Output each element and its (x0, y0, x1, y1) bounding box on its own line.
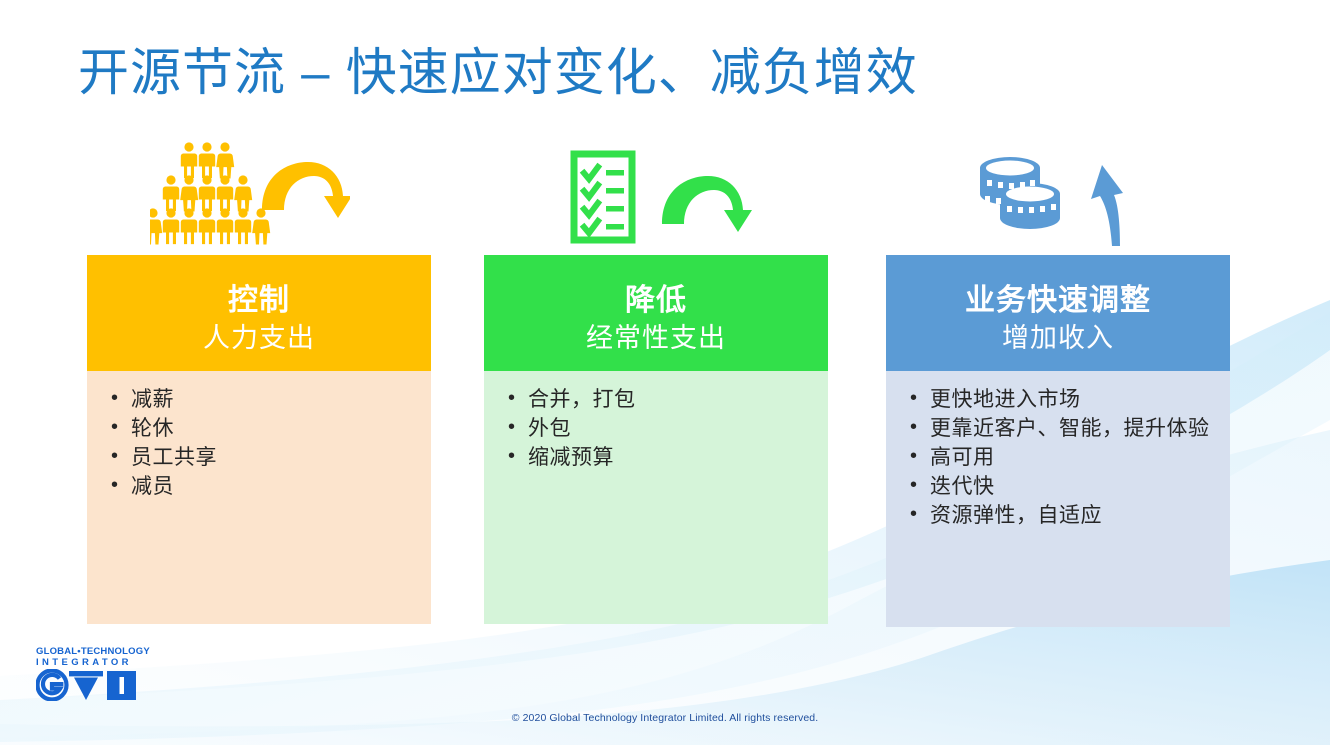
page-title: 开源节流 – 快速应对变化、减负增效 (78, 42, 918, 104)
list-item: 轮休 (109, 414, 415, 443)
list-item: 减薪 (109, 385, 415, 414)
curved-arrow-up-icon (1091, 165, 1123, 246)
list-item: 高可用 (908, 443, 1214, 472)
panel-header: 控制 人力支出 (87, 255, 431, 371)
panel-body: 合并，打包 外包 缩减预算 (484, 371, 828, 624)
panel-reduce-recurring-expense: 降低 经常性支出 合并，打包 外包 缩减预算 (484, 255, 828, 624)
panel-body: 减薪 轮休 员工共享 减员 (87, 371, 431, 624)
list-item: 减员 (109, 472, 415, 501)
panel-subheading: 增加收入 (1002, 320, 1114, 356)
icon-group-human-resources (150, 140, 350, 250)
list-item: 资源弹性，自适应 (908, 501, 1214, 530)
icon-group-revenue-growth (960, 150, 1160, 250)
gti-logo: GLOBAL•TECHNOLOGY INTEGRATOR (36, 646, 154, 698)
panel-control-labor-cost: 控制 人力支出 减薪 轮休 员工共享 减员 (87, 255, 431, 624)
list-item: 更快地进入市场 (908, 385, 1214, 414)
panel-subheading: 人力支出 (203, 320, 315, 356)
panel-header: 降低 经常性支出 (484, 255, 828, 371)
panel-heading: 业务快速调整 (965, 282, 1151, 320)
panel-business-agility: 业务快速调整 增加收入 更快地进入市场 更靠近客户、智能，提升体验 高可用 迭代… (886, 255, 1230, 627)
panel-body: 更快地进入市场 更靠近客户、智能，提升体验 高可用 迭代快 资源弹性，自适应 (886, 371, 1230, 627)
slide-canvas: 开源节流 – 快速应对变化、减负增效 (0, 0, 1330, 745)
curved-arrow-down-icon (662, 176, 752, 232)
panel-heading: 降低 (625, 282, 687, 320)
bullet-list: 更快地进入市场 更靠近客户、智能，提升体验 高可用 迭代快 资源弹性，自适应 (908, 385, 1214, 530)
list-item: 迭代快 (908, 472, 1214, 501)
list-item: 外包 (506, 414, 812, 443)
logo-tagline-line2: INTEGRATOR (36, 657, 154, 668)
people-pyramid-icon (150, 140, 350, 250)
list-item: 缩减预算 (506, 443, 812, 472)
curved-arrow-down-icon (262, 162, 350, 218)
panel-heading: 控制 (228, 282, 290, 320)
list-item: 员工共享 (109, 443, 415, 472)
gti-logo-mark (36, 669, 154, 701)
coin-stacks-icon (960, 150, 1160, 250)
bullet-list: 减薪 轮休 员工共享 减员 (109, 385, 415, 501)
panel-subheading: 经常性支出 (586, 320, 726, 356)
list-item: 更靠近客户、智能，提升体验 (908, 414, 1214, 443)
list-item: 合并，打包 (506, 385, 812, 414)
checklist-icon (560, 150, 760, 250)
panel-header: 业务快速调整 增加收入 (886, 255, 1230, 371)
footer-copyright: © 2020 Global Technology Integrator Limi… (0, 712, 1330, 724)
bullet-list: 合并，打包 外包 缩减预算 (506, 385, 812, 472)
logo-tagline-line1: GLOBAL•TECHNOLOGY (36, 646, 154, 657)
icon-group-recurring-expense (560, 150, 760, 250)
